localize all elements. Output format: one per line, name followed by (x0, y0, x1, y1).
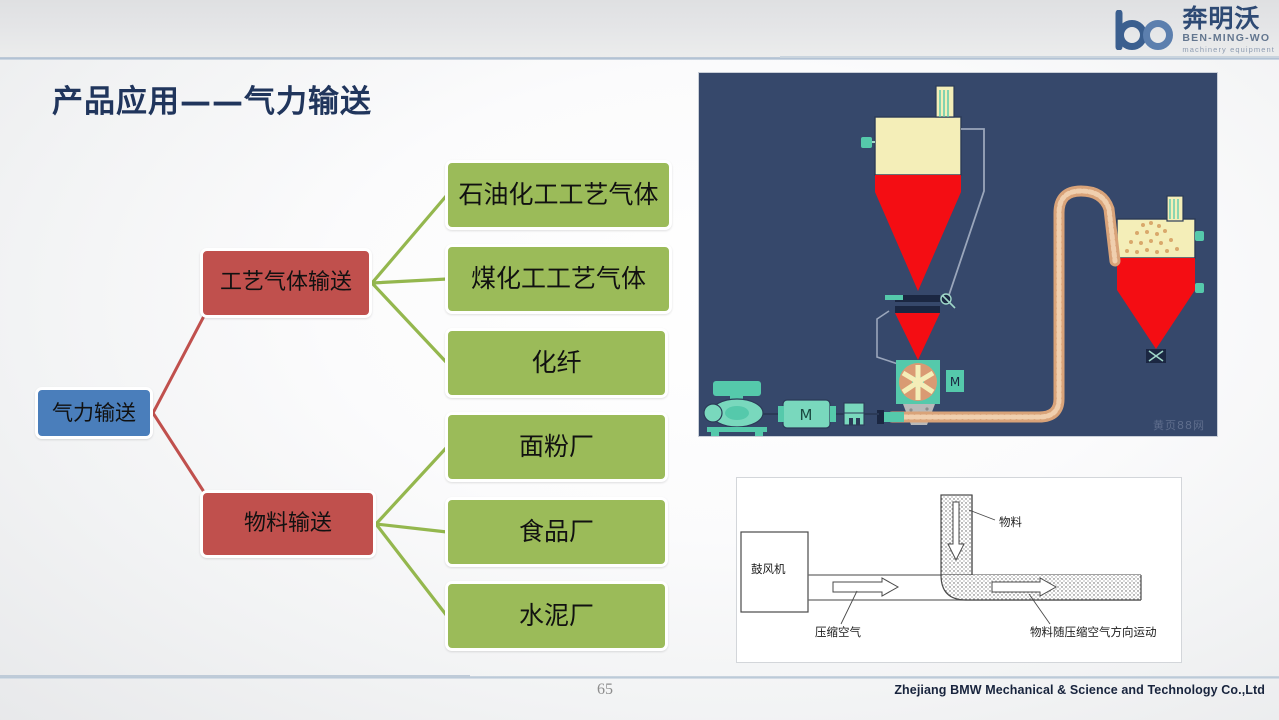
node-category-0[interactable]: 工艺气体输送 (200, 248, 372, 318)
node-leaf-2[interactable]: 化纤 (445, 328, 668, 398)
node-root[interactable]: 气力输送 (35, 387, 153, 439)
svg-text:M: M (800, 406, 813, 424)
node-category-0-label: 工艺气体输送 (220, 271, 352, 294)
connector-category-leaf-4 (376, 524, 447, 532)
bo-monogram-icon (1115, 10, 1179, 50)
footer-divider (0, 676, 1279, 679)
butterfly-valve-icon (941, 294, 955, 308)
application-tree-diagram: 气力输送工艺气体输送物料输送石油化工工艺气体煤化工工艺气体化纤面粉厂食品厂水泥厂 (0, 0, 700, 720)
connector-category-leaf-5 (376, 524, 447, 616)
connector-category-leaf-3 (376, 447, 447, 524)
blow-tank-icon (861, 86, 961, 291)
node-leaf-5[interactable]: 水泥厂 (445, 581, 668, 651)
pneumatic-conveying-system-illustration: M (699, 73, 1217, 436)
node-leaf-1[interactable]: 煤化工工艺气体 (445, 244, 672, 314)
label-material: 物料 (999, 514, 1022, 530)
label-compressed-air: 压缩空气 (815, 624, 861, 640)
image-watermark: 黄页88网 (1153, 417, 1205, 433)
node-leaf-4-label: 食品厂 (519, 519, 594, 545)
filter-icon (844, 403, 864, 425)
node-leaf-0-label: 石油化工工艺气体 (458, 182, 658, 208)
node-leaf-4[interactable]: 食品厂 (445, 497, 668, 567)
svg-text:M: M (950, 375, 960, 389)
company-logo: 奔明沃 BEN-MING-WO machinery equipment (1103, 2, 1275, 57)
label-blower: 鼓风机 (751, 561, 786, 577)
rotary-valve-icon: M (896, 360, 964, 404)
connector-root-category-1 (153, 413, 204, 492)
blower-unit-icon (704, 381, 767, 436)
page-number: 65 (597, 681, 613, 699)
node-category-1[interactable]: 物料输送 (200, 490, 376, 558)
connector-category-leaf-1 (372, 279, 447, 283)
node-leaf-3[interactable]: 面粉厂 (445, 412, 668, 482)
connector-category-leaf-2 (372, 283, 447, 363)
node-leaf-0[interactable]: 石油化工工艺气体 (445, 160, 672, 230)
label-material-flow: 物料随压缩空气方向运动 (1030, 624, 1157, 640)
node-leaf-1-label: 煤化工工艺气体 (471, 266, 646, 292)
pneumatic-conveying-principle-diagram: 鼓风机 物料 压缩空气 物料随压缩空气方向运动 (737, 478, 1181, 662)
slide-canvas: 奔明沃 BEN-MING-WO machinery equipment 产品应用… (0, 0, 1279, 720)
node-category-1-label: 物料输送 (244, 512, 332, 535)
node-leaf-5-label: 水泥厂 (519, 603, 594, 629)
connector-root-category-0 (153, 316, 204, 413)
node-leaf-3-label: 面粉厂 (519, 434, 594, 460)
logo-english-name: BEN-MING-WO (1182, 33, 1270, 44)
company-name: Zhejiang BMW Mechanical & Science and Te… (894, 683, 1265, 697)
node-leaf-2-label: 化纤 (531, 350, 581, 376)
receiving-silo-icon (1117, 196, 1204, 363)
motor-icon: M (778, 400, 836, 428)
logo-tagline: machinery equipment (1182, 46, 1275, 54)
logo-text-group: 奔明沃 BEN-MING-WO machinery equipment (1182, 6, 1275, 53)
discharge-valve-icon (1146, 349, 1166, 363)
connector-category-leaf-0 (372, 195, 447, 283)
node-root-label: 气力输送 (52, 402, 136, 424)
logo-chinese-name: 奔明沃 (1182, 6, 1260, 31)
